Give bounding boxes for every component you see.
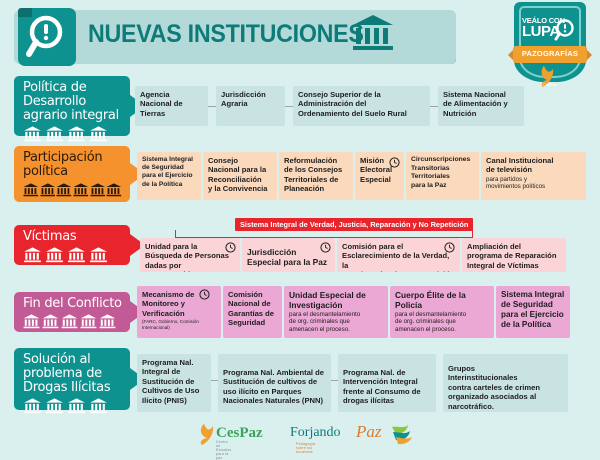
node-title: Consejo Superior de la Administración de… <box>298 90 425 118</box>
node-title: Jurisdicción Especial para la Paz <box>247 247 330 267</box>
bank-icon-group <box>23 126 122 142</box>
node-title: Sistema Integral de Seguridad para el Ej… <box>501 290 565 330</box>
badge-ribbon: PAZOGRAFÍAS <box>508 46 592 64</box>
forjando-paz-word: Paz <box>356 422 382 442</box>
node-box[interactable]: Jurisdicción Agraria <box>216 86 285 126</box>
node-title: Unidad Especial de Investigación <box>289 290 383 310</box>
node-box[interactable]: Reformulación de los Consejos Territoria… <box>279 152 353 200</box>
connector-line <box>285 106 293 107</box>
bank-icon-group <box>23 314 122 329</box>
badge-magnifier-icon <box>554 18 578 42</box>
node-box[interactable]: Mecanismo de Monitoreo y Verificación (F… <box>137 286 221 338</box>
node-note: (FARC, Gobierno, Comisión Internacional) <box>142 319 216 330</box>
node-box[interactable]: Comisión para el Esclarecimiento de la V… <box>337 238 460 272</box>
bank-building-icon <box>23 247 42 263</box>
bank-building-icon <box>73 183 89 197</box>
node-box[interactable]: Agencia Nacional de Tierras <box>135 86 208 126</box>
row-solucion-drogas-ilicitas: Solución al problema de Drogas Ilícitas … <box>0 346 600 418</box>
node-box[interactable]: Programa Nal. Ambiental de Sustitución d… <box>218 354 331 412</box>
forjando-tagline: Pedagogía sobre los Acuerdos <box>296 442 315 454</box>
bank-building-icon <box>99 314 116 329</box>
bank-building-icon <box>61 314 78 329</box>
category-label: Víctimas <box>23 230 122 244</box>
clock-icon <box>444 242 455 253</box>
bank-building-icon <box>23 183 39 197</box>
node-title: Jurisdicción Agraria <box>221 90 280 109</box>
bank-building-icon <box>89 398 108 414</box>
clock-icon <box>320 242 331 253</box>
page-title: NUEVAS INSTITUCIONES <box>88 20 364 49</box>
node-box[interactable]: Circunscripciones Transitorias Territori… <box>406 152 479 200</box>
connector-line <box>430 106 438 107</box>
cespaz-logo[interactable]: CesPaz Centro de Estudios para la paz <box>196 423 216 450</box>
category-participacion-politica[interactable]: Participación política <box>14 146 130 202</box>
node-box[interactable]: Sistema Integral de Seguridad para el Ej… <box>496 286 570 338</box>
row-participacion-politica: Participación política Sistema Integral … <box>0 144 600 210</box>
node-title: Canal Institucional de televisión <box>486 156 581 175</box>
category-label: Política de Desarrollo agrario integral <box>23 81 122 123</box>
node-title: Sistema Nacional de Alimentación y Nutri… <box>443 90 519 118</box>
bank-building-icon <box>23 314 40 329</box>
category-victimas[interactable]: Víctimas <box>14 225 130 265</box>
bank-building-icon <box>40 183 56 197</box>
category-politica-desarrollo-agrario[interactable]: Política de Desarrollo agrario integral <box>14 76 130 136</box>
row-fin-del-conflicto: Fin del Conflicto Mecanismo de Monitoreo… <box>0 282 600 342</box>
bank-building-icon <box>67 126 86 142</box>
bank-building-icon <box>56 183 72 197</box>
node-box[interactable]: Unidad Especial de Investigación para el… <box>284 286 388 338</box>
category-fin-del-conflicto[interactable]: Fin del Conflicto <box>14 292 130 332</box>
bank-icon-group <box>23 183 122 197</box>
bank-building-icon <box>89 247 108 263</box>
clock-icon <box>225 242 236 253</box>
bank-building-icon <box>80 314 97 329</box>
node-box[interactable]: Programa Nal. de Intervención Integral f… <box>338 354 436 412</box>
node-title: Comisión para el Esclarecimiento de la V… <box>342 242 455 272</box>
cespaz-tagline: Centro de Estudios para la paz <box>216 440 231 460</box>
node-box[interactable]: Grupos Interinstitucionales contra carte… <box>443 354 568 412</box>
node-title: Reformulación de los Consejos Territoria… <box>284 156 348 194</box>
node-box[interactable]: Cuerpo Élite de la Policía para el desma… <box>390 286 494 338</box>
node-subtitle: para partidos y movimientos políticos <box>486 176 581 191</box>
node-box[interactable]: Consejo Superior de la Administración de… <box>293 86 430 126</box>
bank-building-icon <box>45 126 64 142</box>
bank-building-icon <box>45 398 64 414</box>
bank-building-icon <box>89 126 108 142</box>
ribbon-label: PAZOGRAFÍAS <box>508 49 592 58</box>
category-solucion-drogas-ilicitas[interactable]: Solución al problema de Drogas Ilícitas <box>14 348 130 410</box>
node-title: Programa Nal. Integral de Sustitución de… <box>142 358 206 405</box>
node-box[interactable]: Canal Institucional de televisión para p… <box>481 152 586 200</box>
forjando-bird-icon <box>390 423 416 445</box>
bracket-connector <box>175 230 473 238</box>
cespaz-bird-icon <box>196 423 216 445</box>
bank-icon-group <box>23 247 122 263</box>
bank-building-icon <box>45 247 64 263</box>
node-title: Sistema Integral de Seguridad para el Ej… <box>142 156 196 189</box>
bank-icon-group <box>23 398 122 414</box>
clock-icon <box>199 289 210 300</box>
bank-building-icon <box>106 183 122 197</box>
node-title: Unidad para la Búsqueda de Personas dada… <box>145 242 235 272</box>
node-box[interactable]: Ampliación del programa de Reparación In… <box>462 238 566 272</box>
row-victimas: Sistema Integral de Verdad, Justicia, Re… <box>0 216 600 276</box>
node-subtitle: para el desmantelamiento de org. crimina… <box>395 311 489 333</box>
node-box[interactable]: Consejo Nacional para la Reconciliación … <box>203 152 277 200</box>
node-title: Circunscripciones Transitorias Territori… <box>411 156 474 190</box>
node-title: Cuerpo Élite de la Policía <box>395 290 489 310</box>
node-box[interactable]: Sistema Nacional de Alimentación y Nutri… <box>438 86 524 126</box>
category-label: Fin del Conflicto <box>23 297 122 311</box>
node-box[interactable]: Comisión Nacional de Garantías de Seguri… <box>223 286 282 338</box>
connector-line <box>211 380 218 381</box>
bank-building-icon <box>23 126 42 142</box>
bank-building-icon <box>42 314 59 329</box>
bank-building-icon <box>90 183 106 197</box>
node-title: Consejo Nacional para la Reconciliación … <box>208 156 272 194</box>
connector-line <box>208 106 216 107</box>
node-title: Comisión Nacional de Garantías de Seguri… <box>228 290 277 328</box>
bank-building-icon <box>67 247 86 263</box>
node-box[interactable]: Sistema Integral de Seguridad para el Ej… <box>137 152 201 200</box>
node-subtitle: para el desmantelamiento de org. crimina… <box>289 311 383 333</box>
footer-logos: CesPaz Centro de Estudios para la paz Fo… <box>0 420 600 450</box>
node-title: Agencia Nacional de Tierras <box>140 90 203 118</box>
bank-building-icon <box>23 398 42 414</box>
clock-icon <box>389 157 400 168</box>
category-label: Participación política <box>23 151 122 179</box>
node-title: Programa Nal. de Intervención Integral f… <box>343 368 431 406</box>
connector-line <box>331 380 338 381</box>
node-box[interactable]: Programa Nal. Integral de Sustitución de… <box>137 354 211 412</box>
category-label: Solución al problema de Drogas Ilícitas <box>23 353 122 395</box>
node-title: Grupos Interinstitucionales contra carte… <box>448 364 563 411</box>
node-title: Programa Nal. Ambiental de Sustitución d… <box>223 368 326 406</box>
row-politica-desarrollo-agrario: Política de Desarrollo agrario integral … <box>0 74 600 138</box>
bank-building-icon <box>67 398 86 414</box>
node-title: Ampliación del programa de Reparación In… <box>467 242 561 270</box>
bank-building-icon <box>352 14 394 52</box>
node-box[interactable]: Misión Electoral Especial <box>355 152 404 200</box>
node-box[interactable]: Jurisdicción Especial para la Paz <box>242 238 335 272</box>
forjando-word: Forjando <box>290 425 341 441</box>
node-box[interactable]: Unidad para la Búsqueda de Personas dada… <box>140 238 240 272</box>
magnifier-exclamation-icon <box>26 14 72 60</box>
